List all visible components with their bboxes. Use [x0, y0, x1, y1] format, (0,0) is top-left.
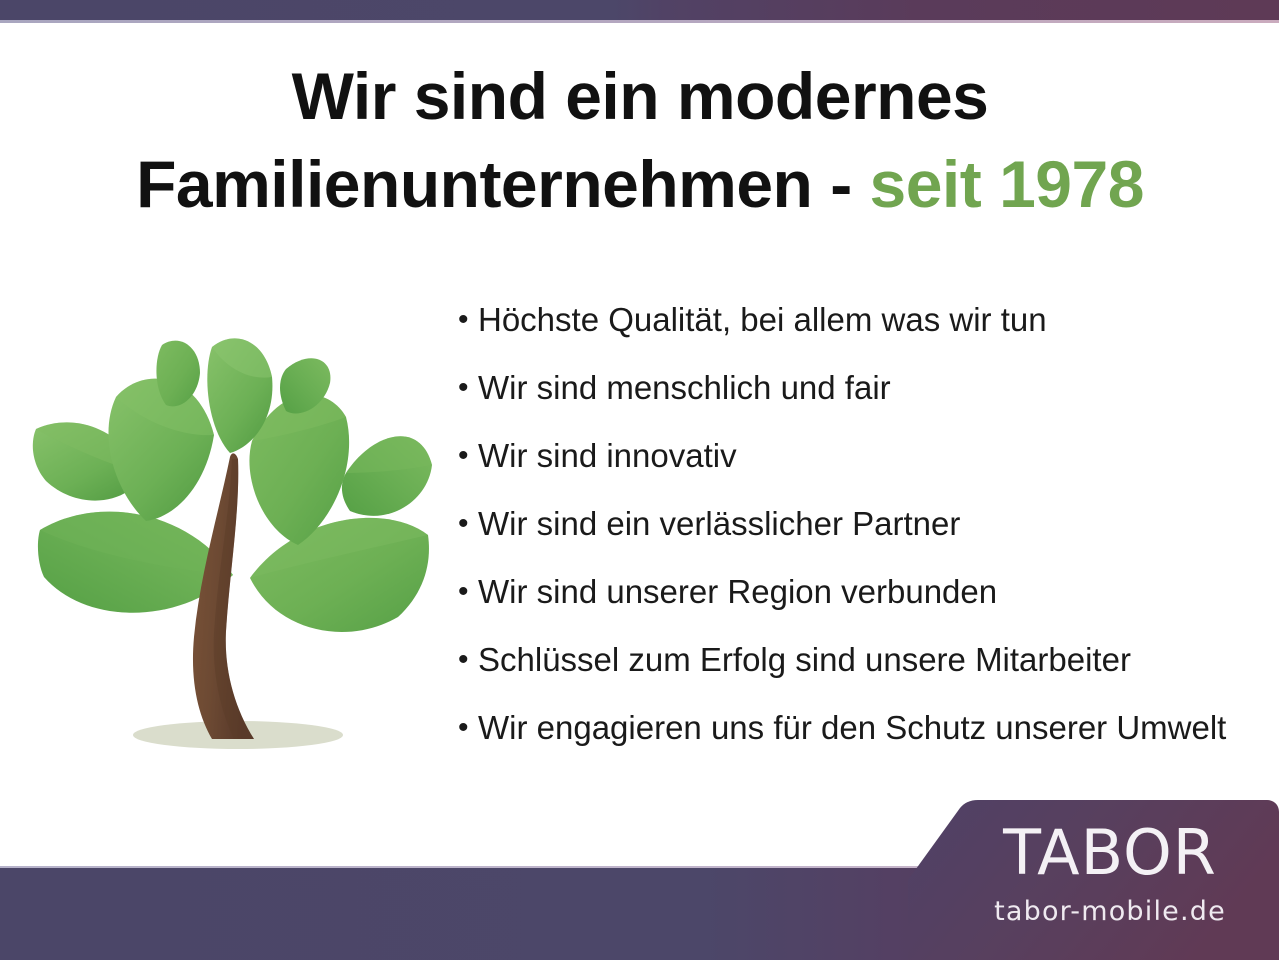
- list-item-label: Wir engagieren uns für den Schutz unsere…: [478, 708, 1272, 748]
- tree-illustration: [28, 325, 438, 760]
- list-item: • Wir sind unserer Region verbunden: [452, 572, 1272, 640]
- headline-accent: seit 1978: [870, 147, 1144, 221]
- top-accent-bar: [0, 0, 1279, 20]
- list-item-label: Wir sind ein verlässlicher Partner: [478, 504, 1272, 544]
- leaf-lower-right: [250, 518, 429, 632]
- page-title: Wir sind ein modernes Familienunternehme…: [60, 52, 1220, 228]
- headline-line-2: Familienunternehmen - seit 1978: [60, 140, 1220, 228]
- list-item-label: Wir sind menschlich und fair: [478, 368, 1272, 408]
- list-item: • Wir engagieren uns für den Schutz unse…: [452, 708, 1272, 776]
- list-item: • Wir sind menschlich und fair: [452, 368, 1272, 436]
- slide-root: Wir sind ein modernes Familienunternehme…: [0, 0, 1279, 960]
- list-item-label: Wir sind innovativ: [478, 436, 1272, 476]
- bullet-dot-icon: •: [452, 572, 478, 612]
- leaf-upper-left: [108, 379, 214, 521]
- list-item: • Schlüssel zum Erfolg sind unsere Mitar…: [452, 640, 1272, 708]
- bullet-dot-icon: •: [452, 436, 478, 476]
- bullet-dot-icon: •: [452, 368, 478, 408]
- bullet-dot-icon: •: [452, 708, 478, 748]
- list-item-label: Wir sind unserer Region verbunden: [478, 572, 1272, 612]
- bullet-dot-icon: •: [452, 504, 478, 544]
- tree-trunk-shade: [214, 459, 254, 739]
- top-accent-hairline: [0, 20, 1279, 23]
- bullet-dot-icon: •: [452, 640, 478, 680]
- bullet-dot-icon: •: [452, 300, 478, 340]
- list-item: • Höchste Qualität, bei allem was wir tu…: [452, 300, 1272, 368]
- list-item: • Wir sind innovativ: [452, 436, 1272, 504]
- logo-badge-shape: [908, 800, 1279, 960]
- feature-bullet-list: • Höchste Qualität, bei allem was wir tu…: [452, 300, 1272, 776]
- headline-line-1: Wir sind ein modernes: [60, 52, 1220, 140]
- headline-line-2-main: Familienunternehmen -: [136, 147, 869, 221]
- list-item-label: Höchste Qualität, bei allem was wir tun: [478, 300, 1272, 340]
- list-item: • Wir sind ein verlässlicher Partner: [452, 504, 1272, 572]
- leaf-mid-right: [342, 436, 432, 516]
- list-item-label: Schlüssel zum Erfolg sind unsere Mitarbe…: [478, 640, 1272, 680]
